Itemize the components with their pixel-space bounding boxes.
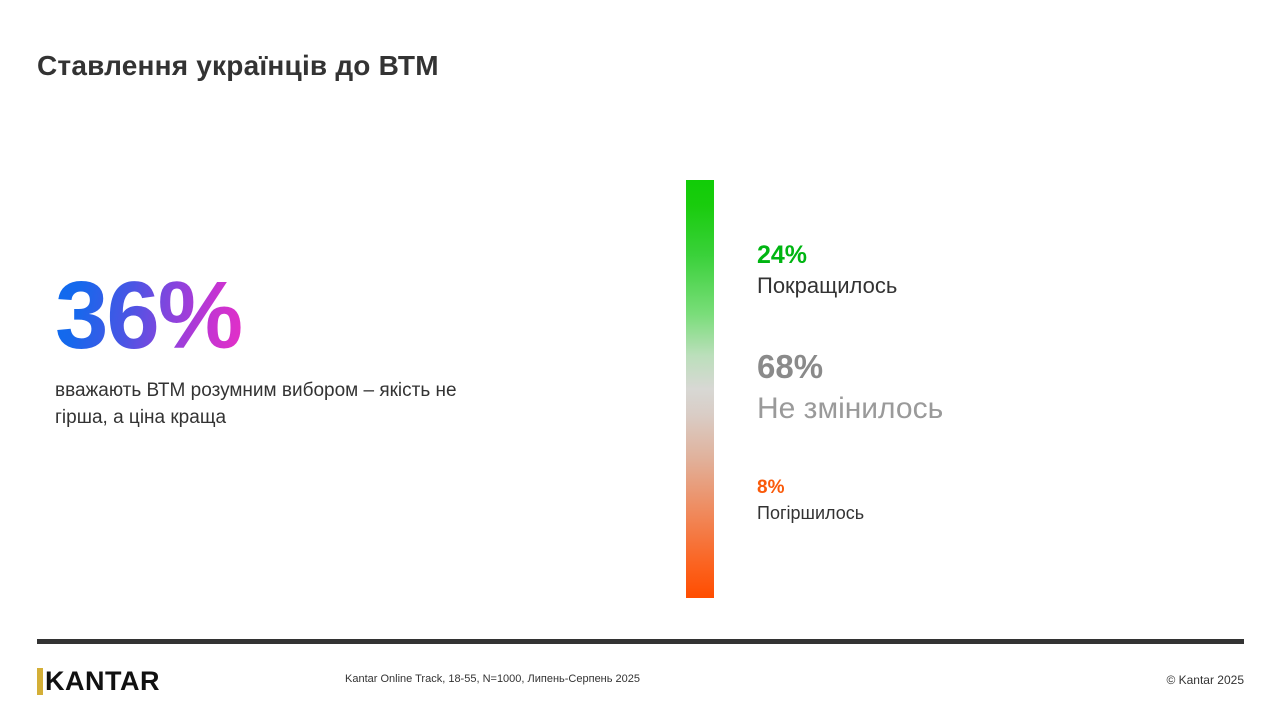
legend-item-unchanged: 68% Не змінилось: [757, 350, 943, 427]
kantar-logo: KANTAR: [37, 666, 160, 696]
legend-value-improved: 24%: [757, 242, 897, 268]
logo-wordmark: KANTAR: [45, 668, 160, 695]
sentiment-gradient-bar: [686, 180, 714, 598]
headline-stat-block: 36% вважають ВТМ розумним вибором – якіс…: [55, 268, 575, 432]
slide-canvas: Ставлення українців до ВТМ 36% вважають …: [0, 0, 1280, 720]
legend-label-unchanged: Не змінилось: [757, 391, 943, 427]
footer-divider: [37, 639, 1244, 644]
legend-label-worsened: Погіршилось: [757, 503, 864, 525]
copyright-notice: © Kantar 2025: [1166, 673, 1244, 687]
legend-item-worsened: 8% Погіршилось: [757, 478, 864, 525]
legend-item-improved: 24% Покращилось: [757, 242, 897, 300]
headline-stat-caption: вважають ВТМ розумним вибором – якість н…: [55, 378, 485, 432]
legend: 24% Покращилось 68% Не змінилось 8% Погі…: [757, 180, 1137, 598]
legend-value-worsened: 8%: [757, 478, 864, 498]
logo-accent-bar-icon: [37, 668, 43, 695]
page-title: Ставлення українців до ВТМ: [37, 50, 439, 82]
source-footnote: Kantar Online Track, 18-55, N=1000, Липе…: [345, 673, 640, 685]
legend-label-improved: Покращилось: [757, 273, 897, 299]
headline-stat-value: 36%: [55, 268, 241, 364]
legend-value-unchanged: 68%: [757, 350, 943, 385]
